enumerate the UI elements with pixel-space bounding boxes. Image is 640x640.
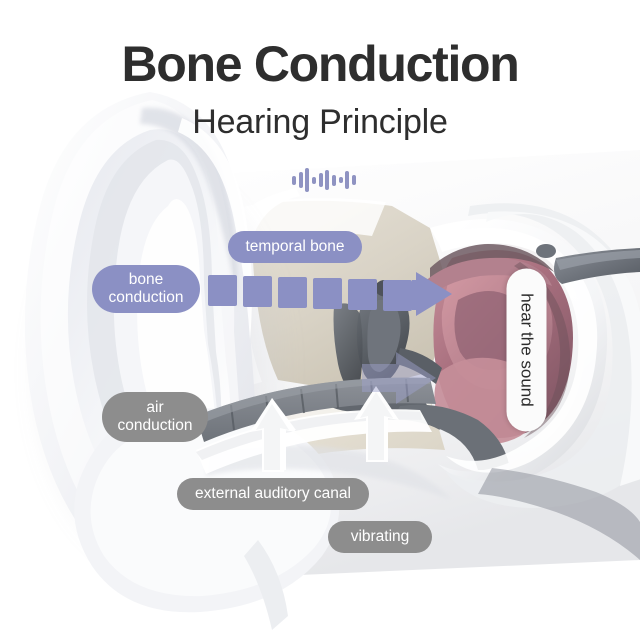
label-vibrating: vibrating (328, 521, 432, 553)
waveform-bar (352, 175, 356, 185)
label-hear-the-sound: hear the sound (507, 269, 547, 432)
waveform-bar (325, 170, 329, 190)
waveform-bar (312, 177, 316, 184)
label-air-conduction: air conduction (102, 392, 208, 442)
page-subtitle: Hearing Principle (0, 104, 640, 141)
bone-conduction-infographic: Bone Conduction Hearing Principle bone c… (0, 0, 640, 640)
waveform-bar (339, 177, 343, 183)
waveform-bar (332, 175, 336, 186)
audio-waveform-icon (292, 166, 356, 194)
waveform-bar (345, 171, 349, 189)
page-title: Bone Conduction (0, 38, 640, 91)
waveform-bar (319, 173, 323, 187)
label-temporal-bone: temporal bone (228, 231, 362, 263)
waveform-bar (305, 168, 309, 192)
label-external-auditory-canal: external auditory canal (177, 478, 369, 510)
label-bone-conduction: bone conduction (92, 265, 200, 313)
waveform-bar (292, 176, 296, 185)
waveform-bar (299, 172, 303, 188)
